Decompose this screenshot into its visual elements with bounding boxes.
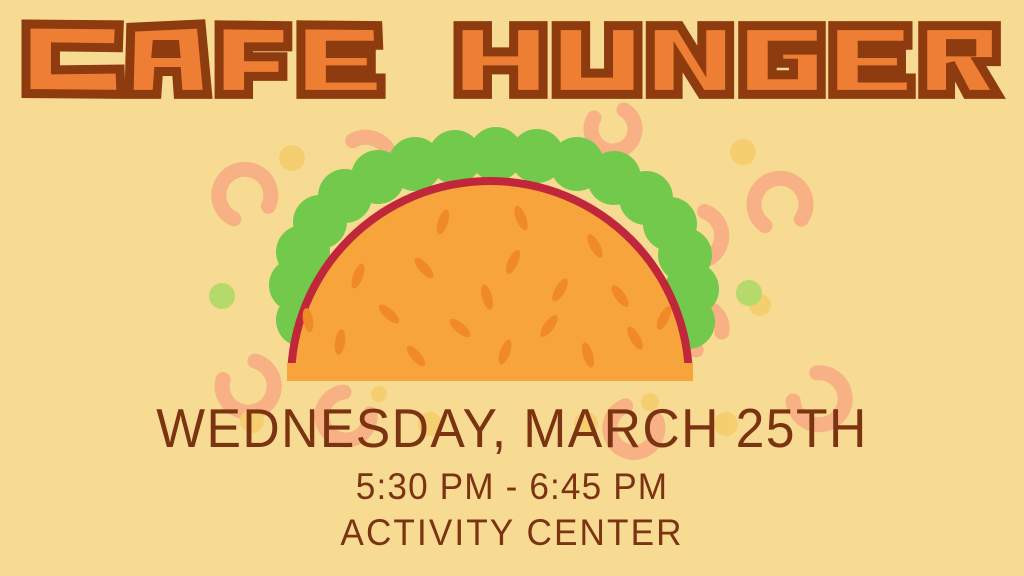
event-time: 5:30 PM - 6:45 PM (26, 464, 999, 509)
title-letter-N (650, 26, 729, 95)
title-letter-E (301, 25, 381, 95)
title-letter-F (219, 25, 288, 95)
poster-title (0, 16, 1024, 136)
title-letter-G (743, 26, 822, 95)
event-poster: WEDNESDAY, MARCH 25TH 5:30 PM - 6:45 PM … (0, 0, 1024, 576)
title-letter-E2 (833, 26, 912, 95)
title-letter-U (556, 26, 638, 95)
title-letter-R (923, 26, 998, 95)
event-details: WEDNESDAY, MARCH 25TH 5:30 PM - 6:45 PM … (0, 398, 1024, 555)
title-letter-A (129, 24, 208, 94)
title-letter-H (458, 26, 543, 95)
title-letter-C (26, 24, 121, 94)
poster-title-art (0, 16, 1024, 136)
event-date: WEDNESDAY, MARCH 25TH (31, 398, 994, 458)
event-venue: ACTIVITY CENTER (26, 510, 999, 555)
taco-shell-base (287, 363, 693, 381)
